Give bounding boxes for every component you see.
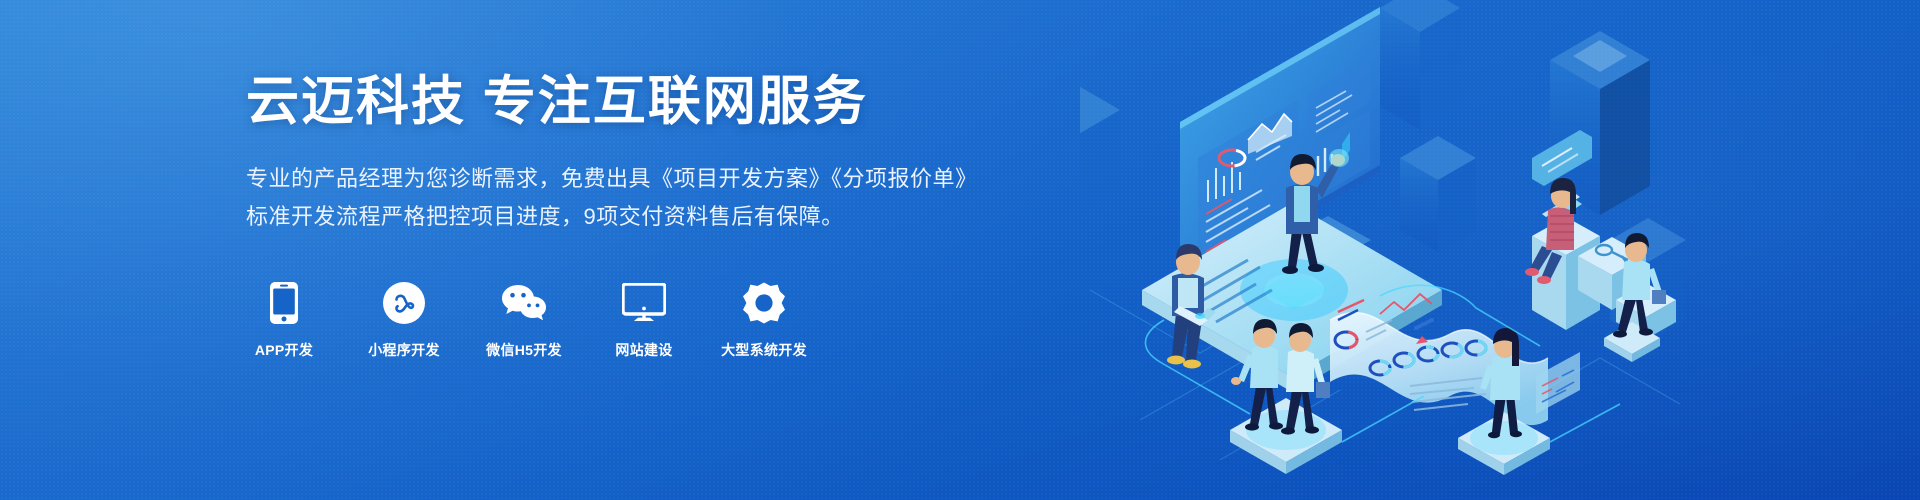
promo-banner: 云迈科技 专注互联网服务 专业的产品经理为您诊断需求，免费出具《项目开发方案》《… — [0, 0, 1920, 500]
isometric-data-dashboard-illustration — [1080, 0, 1700, 500]
service-label: 小程序开发 — [368, 340, 440, 360]
page-title: 云迈科技 专注互联网服务 — [246, 72, 1106, 133]
service-item-mini-program[interactable]: 小程序开发 — [368, 280, 440, 360]
service-icon-row: APP开发 小程序开发 微信 — [248, 280, 800, 360]
subtitle-line-1: 专业的产品经理为您诊断需求，免费出具《项目开发方案》《分项报价单》 — [246, 161, 1106, 197]
mini-program-icon — [383, 280, 425, 326]
banner-text-block: 云迈科技 专注互联网服务 专业的产品经理为您诊断需求，免费出具《项目开发方案》《… — [246, 72, 1106, 234]
service-label: 网站建设 — [615, 340, 672, 360]
monitor-icon — [622, 280, 666, 326]
wechat-icon — [501, 280, 547, 326]
service-label: APP开发 — [255, 340, 313, 360]
service-item-app[interactable]: APP开发 — [248, 280, 320, 360]
service-item-website[interactable]: 网站建设 — [608, 280, 680, 360]
subtitle-line-2: 标准开发流程严格把控项目进度，9项交付资料售后有保障。 — [246, 199, 1106, 235]
service-item-wechat-h5[interactable]: 微信H5开发 — [488, 280, 560, 360]
service-label: 微信H5开发 — [486, 340, 562, 360]
service-label: 大型系统开发 — [721, 340, 807, 360]
mobile-phone-icon — [270, 280, 298, 326]
gear-icon — [743, 280, 785, 326]
service-item-large-system[interactable]: 大型系统开发 — [728, 280, 800, 360]
